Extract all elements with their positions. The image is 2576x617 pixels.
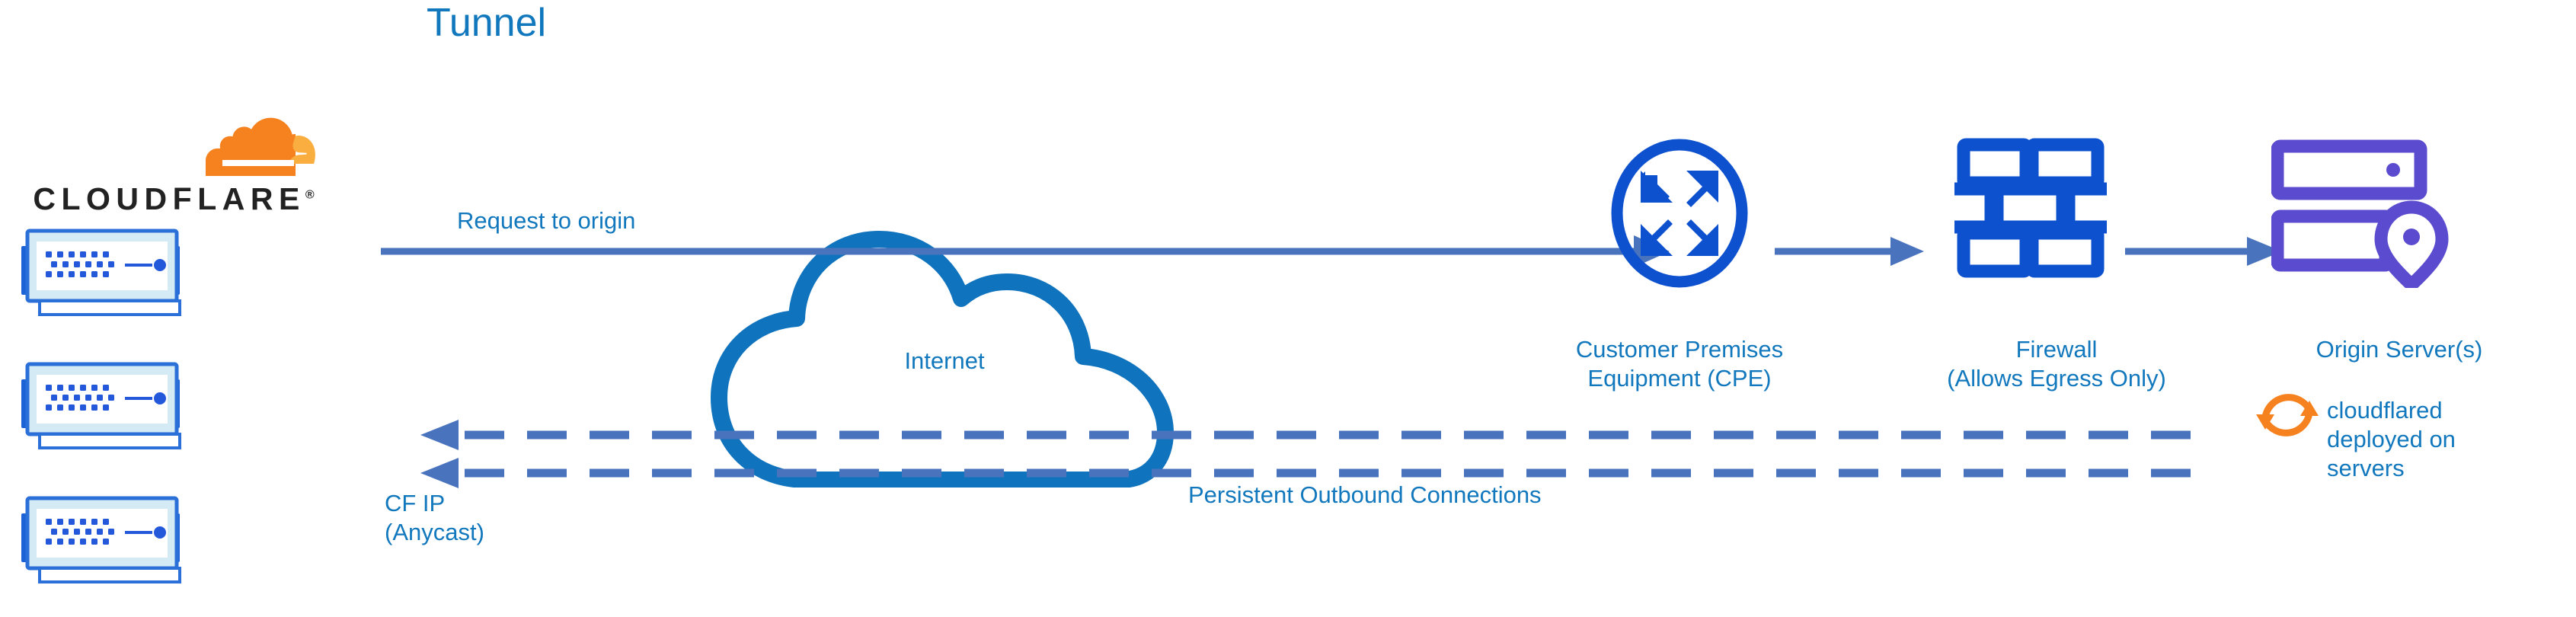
firewall-label: Firewall (Allows Egress Only) (1851, 335, 2262, 393)
cloudflare-server-1 (9, 217, 192, 328)
cloudflare-server-3 (9, 484, 192, 595)
cloudflare-logo: CLOUDFLARE® (14, 107, 334, 229)
persistent-outbound-label: Persistent Outbound Connections (1188, 481, 1542, 509)
server-rack-pin-icon (2271, 136, 2462, 292)
brick-wall-icon (1954, 136, 2107, 284)
cloudflared-label: cloudflared deployed on servers (2327, 396, 2525, 483)
wordmark-text: CLOUDFLARE (33, 181, 305, 216)
firewall-to-origin-arrow (2125, 232, 2285, 274)
sync-arrows-icon (2253, 381, 2322, 453)
cloudflare-server-2 (9, 350, 192, 461)
tunnel-arrow-upper (411, 417, 2209, 456)
page-title: Tunnel (427, 0, 546, 46)
router-icon (1607, 137, 1752, 293)
cloudflare-wordmark: CLOUDFLARE® (14, 181, 334, 217)
cpe-label: Customer Premises Equipment (CPE) (1504, 335, 1855, 393)
internet-label: Internet (845, 347, 1044, 375)
request-arrow (381, 229, 1676, 278)
cpe-to-firewall-arrow (1775, 232, 1927, 274)
origin-server-label: Origin Server(s) (2247, 335, 2552, 364)
tunnel-diagram: Tunnel CLOUDFLARE® (0, 0, 2576, 617)
request-to-origin-label: Request to origin (457, 207, 635, 235)
registered-mark: ® (305, 188, 315, 201)
cloudflare-cloud-mark-icon (175, 107, 324, 184)
cf-ip-anycast-label: CF IP (Anycast) (385, 489, 484, 547)
